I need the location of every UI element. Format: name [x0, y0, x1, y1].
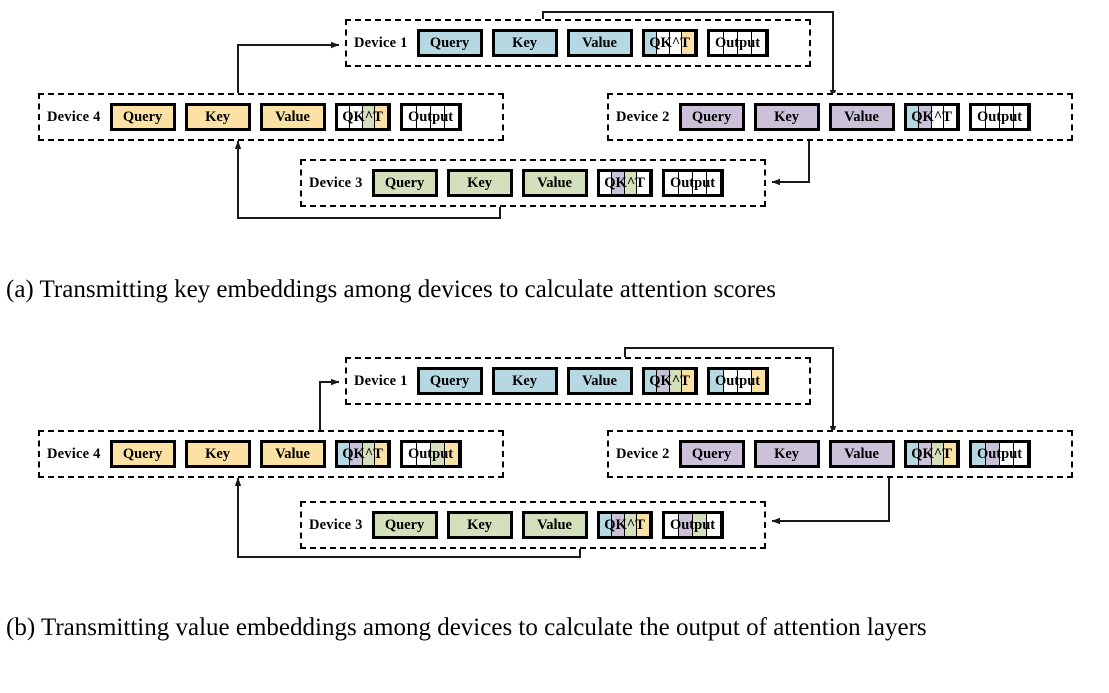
tensor-box-output[interactable]: Output — [662, 169, 724, 197]
tensor-box-value[interactable]: Value — [260, 103, 326, 131]
panel-a-device-2[interactable]: Device 2 Query Key Value QK^T Output — [607, 93, 1073, 141]
panel-b-device-4[interactable]: Device 4 Query Key Value QK^T Output — [38, 430, 504, 478]
tensor-box-output[interactable]: Output — [707, 29, 769, 57]
panel-a-device-1[interactable]: Device 1 Query Key Value QK^T Output — [345, 19, 811, 67]
tensor-box-output[interactable]: Output — [400, 440, 462, 468]
tensor-box-query[interactable]: Query — [372, 511, 438, 539]
tensor-box-qkt[interactable]: QK^T — [597, 169, 653, 197]
tensor-box-query[interactable]: Query — [679, 440, 745, 468]
device-label: Device 4 — [47, 446, 101, 463]
device-label: Device 2 — [616, 446, 670, 463]
panel-a-device-3[interactable]: Device 3 Query Key Value QK^T Output — [300, 159, 766, 207]
tensor-box-value[interactable]: Value — [829, 103, 895, 131]
tensor-box-value[interactable]: Value — [829, 440, 895, 468]
figure-root: Device 1 Query Key Value QK^T Output Dev… — [0, 0, 1109, 693]
device-label: Device 3 — [309, 175, 363, 192]
tensor-box-key[interactable]: Key — [492, 367, 558, 395]
tensor-box-qkt[interactable]: QK^T — [597, 511, 653, 539]
panel-b-device-3[interactable]: Device 3 Query Key Value QK^T Output — [300, 501, 766, 549]
tensor-box-value[interactable]: Value — [567, 367, 633, 395]
device-label: Device 1 — [354, 35, 408, 52]
tensor-box-key[interactable]: Key — [185, 440, 251, 468]
tensor-box-qkt[interactable]: QK^T — [904, 440, 960, 468]
tensor-box-qkt[interactable]: QK^T — [642, 367, 698, 395]
tensor-box-qkt[interactable]: QK^T — [335, 103, 391, 131]
tensor-box-key[interactable]: Key — [185, 103, 251, 131]
tensor-box-key[interactable]: Key — [447, 169, 513, 197]
tensor-box-query[interactable]: Query — [417, 367, 483, 395]
tensor-box-output[interactable]: Output — [400, 103, 462, 131]
tensor-box-output[interactable]: Output — [969, 440, 1031, 468]
device-label: Device 1 — [354, 373, 408, 390]
device-label: Device 4 — [47, 109, 101, 126]
panel-b-device-2[interactable]: Device 2 Query Key Value QK^T Output — [607, 430, 1073, 478]
tensor-box-value[interactable]: Value — [522, 169, 588, 197]
device-label: Device 3 — [309, 517, 363, 534]
tensor-box-value[interactable]: Value — [522, 511, 588, 539]
tensor-box-value[interactable]: Value — [260, 440, 326, 468]
tensor-box-key[interactable]: Key — [447, 511, 513, 539]
tensor-box-key[interactable]: Key — [754, 440, 820, 468]
tensor-box-output[interactable]: Output — [662, 511, 724, 539]
tensor-box-query[interactable]: Query — [110, 103, 176, 131]
tensor-box-key[interactable]: Key — [492, 29, 558, 57]
tensor-box-query[interactable]: Query — [417, 29, 483, 57]
tensor-box-value[interactable]: Value — [567, 29, 633, 57]
tensor-box-query[interactable]: Query — [679, 103, 745, 131]
tensor-box-output[interactable]: Output — [707, 367, 769, 395]
tensor-box-query[interactable]: Query — [110, 440, 176, 468]
panel-a-device-4[interactable]: Device 4 Query Key Value QK^T Output — [38, 93, 504, 141]
tensor-box-output[interactable]: Output — [969, 103, 1031, 131]
panel-b-device-1[interactable]: Device 1 Query Key Value QK^T Output — [345, 357, 811, 405]
tensor-box-qkt[interactable]: QK^T — [642, 29, 698, 57]
tensor-box-qkt[interactable]: QK^T — [904, 103, 960, 131]
device-label: Device 2 — [616, 109, 670, 126]
tensor-box-qkt[interactable]: QK^T — [335, 440, 391, 468]
tensor-box-key[interactable]: Key — [754, 103, 820, 131]
tensor-box-query[interactable]: Query — [372, 169, 438, 197]
